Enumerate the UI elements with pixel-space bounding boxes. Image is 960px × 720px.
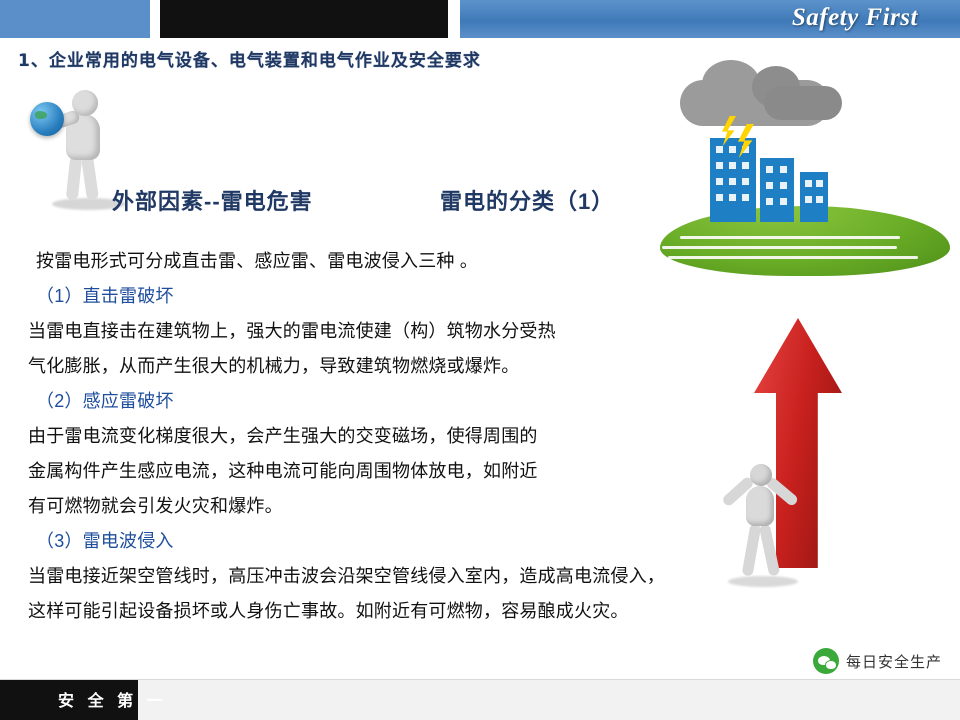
figure-shadow [728, 576, 798, 587]
body-line: （1）直击雷破坏 [28, 287, 728, 305]
body-line: 按雷电形式可分成直击雷、感应雷、雷电波侵入三种 。 [28, 252, 728, 270]
body-text-block: 按雷电形式可分成直击雷、感应雷、雷电波侵入三种 。 （1）直击雷破坏 当雷电直接… [28, 252, 728, 637]
building-3 [800, 172, 828, 222]
body-line: 这样可能引起设备损坏或人身伤亡事故。如附近有可燃物，容易酿成火灾。 [28, 602, 728, 620]
swoosh-line-3 [680, 236, 900, 239]
figure-body [746, 486, 774, 526]
top-banner: Safety First [0, 0, 960, 38]
swoosh-line-2 [662, 246, 897, 249]
wechat-label: 每日安全生产 [846, 651, 942, 672]
man-leg-left [66, 155, 83, 200]
building-1 [710, 138, 756, 222]
figure-head [750, 464, 772, 486]
body-line: （2）感应雷破坏 [28, 392, 728, 410]
subtitle-right: 雷电的分类（1） [440, 184, 614, 216]
bottom-banner: 安 全 第 一 [0, 679, 960, 720]
man-leg-right [81, 155, 99, 200]
body-line: 金属构件产生感应电流，这种电流可能向周围物体放电，如附近 [28, 462, 728, 480]
body-line: 有可燃物就会引发火灾和爆炸。 [28, 497, 728, 515]
body-line: 当雷电接近架空管线时，高压冲击波会沿架空管线侵入室内，造成高电流侵入， [28, 567, 728, 585]
subtitle-left: 外部因素--雷电危害 [112, 184, 313, 216]
bottom-banner-label: 安 全 第 一 [58, 687, 167, 711]
banner-title: Safety First [792, 4, 918, 32]
banner-segment-black [160, 0, 448, 38]
page-title: 1、企业常用的电气设备、电气装置和电气作业及安全要求 [18, 46, 481, 71]
wechat-account: 每日安全生产 [813, 648, 942, 674]
storm-scene-illustration [660, 80, 950, 260]
figure-leg-left [742, 523, 762, 576]
body-line: （3）雷电波侵入 [28, 532, 728, 550]
banner-gap-2 [448, 0, 460, 38]
building-2 [760, 158, 794, 222]
storm-cloud-secondary [764, 86, 842, 120]
banner-segment-blue-left [0, 0, 150, 38]
body-line: 由于雷电流变化梯度很大，会产生强大的交变磁场，使得周围的 [28, 427, 728, 445]
body-line: 气化膨胀，从而产生很大的机械力，导致建筑物燃烧或爆炸。 [28, 357, 728, 375]
red-arrow-illustration [710, 318, 890, 648]
banner-gap-1 [152, 0, 160, 38]
body-line: 当雷电直接击在建筑物上，强大的雷电流使建（构）筑物水分受热 [28, 322, 728, 340]
figure-leg-right [759, 523, 781, 576]
wechat-icon [813, 648, 839, 674]
figure-illustration [720, 464, 812, 614]
globe-icon [30, 102, 64, 136]
slide-canvas: Safety First 1、企业常用的电气设备、电气装置和电气作业及安全要求 [0, 0, 960, 720]
